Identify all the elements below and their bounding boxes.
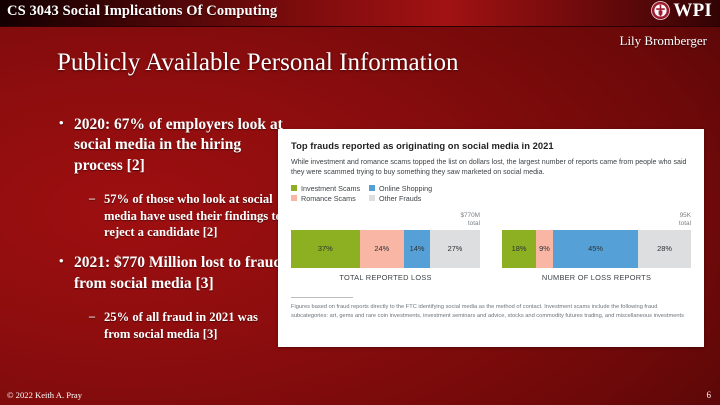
bullet-item-1-sub: 57% of those who look at social media ha… — [89, 191, 283, 240]
chart-total: 95K total — [502, 212, 691, 228]
bullet-item-1: 2020: 67% of employers look at social me… — [58, 115, 283, 176]
chart-axis-label: NUMBER OF LOSS REPORTS — [502, 273, 691, 282]
page-title: Publicly Available Personal Information — [57, 49, 459, 77]
legend-label: Investment Scams — [301, 184, 360, 193]
legend-label: Romance Scams — [301, 194, 356, 203]
footer-copyright: © 2022 Keith A. Pray — [7, 390, 82, 400]
bar-segment-investment-scams: 18% — [502, 230, 536, 268]
legend-label: Other Frauds — [379, 194, 421, 203]
legend-item-romance-scams: Romance Scams — [291, 194, 369, 203]
bar-segment-online-shopping: 14% — [404, 230, 430, 268]
chart-footnote: Figures based on fraud reports directly … — [291, 303, 691, 320]
chart-total-suffix: total — [468, 220, 480, 227]
chart-total: $770M total — [291, 212, 480, 228]
stacked-bar: 18% 9% 45% 28% — [502, 230, 691, 268]
chart-subtitle: While investment and romance scams toppe… — [291, 157, 691, 178]
chart-total-reported-loss: $770M total 37% 24% 14% 27% — [291, 212, 480, 282]
legend-swatch-blue — [369, 185, 375, 191]
author-name: Lily Bromberger — [620, 33, 708, 49]
chart-legend: Investment Scams Online Shopping Romance… — [291, 184, 551, 203]
bar-segment-romance-scams: 9% — [536, 230, 553, 268]
spacer — [58, 240, 283, 253]
chart-card: Top frauds reported as originating on so… — [278, 129, 704, 347]
stacked-bar: 37% 24% 14% 27% — [291, 230, 480, 268]
legend-swatch-salmon — [291, 195, 297, 201]
chart-number-of-loss-reports: 95K total 18% 9% 45% 28% — [502, 212, 691, 282]
legend-swatch-green — [291, 185, 297, 191]
bar-segment-investment-scams: 37% — [291, 230, 360, 268]
chart-total-value: 95K — [680, 212, 691, 219]
bar-segment-other-frauds: 28% — [638, 230, 691, 268]
chart-total-suffix: total — [679, 220, 691, 227]
segment-value: 28% — [657, 244, 672, 253]
spacer — [58, 180, 283, 191]
course-title: CS 3043 Social Implications Of Computing — [7, 3, 277, 20]
slide: CS 3043 Social Implications Of Computing… — [0, 0, 720, 405]
charts-container: $770M total 37% 24% 14% 27% — [291, 212, 691, 282]
bullet-item-2: 2021: $770 Million lost to fraud from so… — [58, 253, 283, 294]
legend-item-other-frauds: Other Frauds — [369, 194, 551, 203]
segment-value: 37% — [318, 244, 333, 253]
header-bar: CS 3043 Social Implications Of Computing… — [0, 0, 720, 27]
segment-value: 27% — [448, 244, 463, 253]
segment-value: 9% — [539, 244, 550, 253]
legend-label: Online Shopping — [379, 184, 432, 193]
legend-item-investment-scams: Investment Scams — [291, 184, 369, 193]
segment-value: 14% — [410, 244, 425, 253]
bar-segment-romance-scams: 24% — [360, 230, 404, 268]
divider — [291, 297, 353, 298]
wpi-seal-icon — [651, 1, 670, 20]
spacer — [58, 298, 283, 309]
bar-segment-online-shopping: 45% — [553, 230, 638, 268]
bar-segment-other-frauds: 27% — [430, 230, 480, 268]
chart-axis-label: TOTAL REPORTED LOSS — [291, 273, 480, 282]
segment-value: 24% — [374, 244, 389, 253]
bullet-list: 2020: 67% of employers look at social me… — [58, 115, 283, 342]
chart-total-value: $770M — [460, 212, 480, 219]
wpi-logo: WPI — [651, 1, 712, 20]
wpi-wordmark: WPI — [673, 1, 712, 20]
legend-item-online-shopping: Online Shopping — [369, 184, 551, 193]
segment-value: 18% — [512, 244, 527, 253]
bullet-item-2-sub: 25% of all fraud in 2021 was from social… — [89, 309, 283, 342]
footer-page-number: 6 — [707, 390, 712, 400]
chart-title: Top frauds reported as originating on so… — [291, 140, 691, 151]
segment-value: 45% — [588, 244, 603, 253]
legend-swatch-gray — [369, 195, 375, 201]
